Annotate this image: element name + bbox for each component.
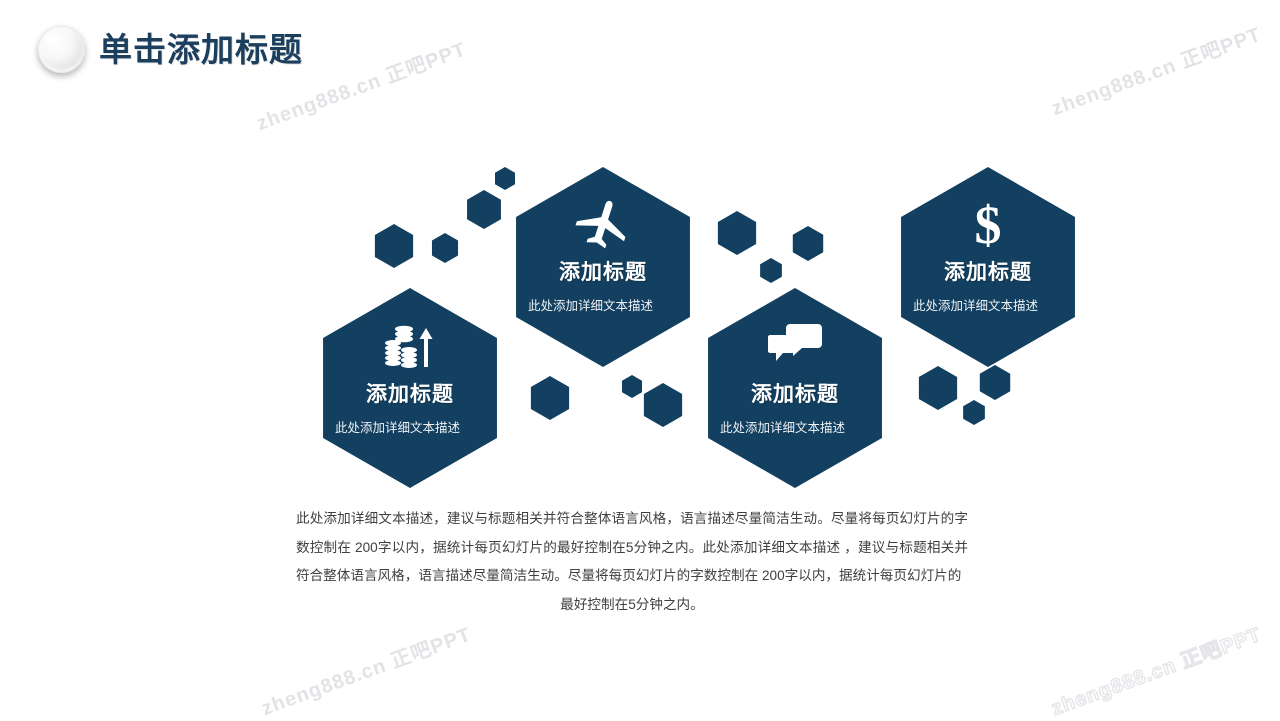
hex-card-1[interactable]: 添加标题 此处添加详细文本描述 (295, 318, 525, 437)
decor-hexagon (963, 400, 985, 425)
decor-hexagon (718, 211, 756, 255)
decor-hexagon (760, 258, 782, 283)
decor-hexagon (495, 167, 515, 190)
hex-card-description: 此处添加详细文本描述 (720, 419, 870, 437)
decor-hexagon (432, 233, 458, 263)
decor-hexagon (919, 366, 957, 410)
dollar-sign-icon: $ (873, 196, 1103, 254)
hex-card-3[interactable]: 添加标题 此处添加详细文本描述 (680, 318, 910, 437)
hex-card-title: 添加标题 (488, 260, 718, 285)
decor-hexagon (531, 376, 569, 420)
body-paragraph-last-line: 最好控制在5分钟之内。 (296, 591, 968, 620)
decor-hexagon (793, 226, 823, 261)
body-paragraph: 此处添加详细文本描述，建议与标题相关并符合整体语言风格，语言描述尽量简洁生动。尽… (296, 505, 968, 619)
decor-hexagon (644, 383, 682, 427)
airplane-icon (488, 196, 718, 254)
hex-card-description: 此处添加详细文本描述 (528, 297, 678, 315)
hex-card-title: 添加标题 (680, 382, 910, 407)
chat-bubbles-icon (680, 318, 910, 376)
hex-card-4[interactable]: $ 添加标题 此处添加详细文本描述 (873, 196, 1103, 315)
hex-card-2[interactable]: 添加标题 此处添加详细文本描述 (488, 196, 718, 315)
hex-card-description: 此处添加详细文本描述 (913, 297, 1063, 315)
decor-hexagon (375, 224, 413, 268)
decor-hexagon (980, 365, 1010, 400)
body-paragraph-text: 此处添加详细文本描述，建议与标题相关并符合整体语言风格，语言描述尽量简洁生动。尽… (296, 511, 968, 583)
coins-growth-icon (295, 318, 525, 376)
svg-text:$: $ (975, 197, 1002, 253)
hex-card-title: 添加标题 (295, 382, 525, 407)
decor-hexagon (622, 375, 642, 398)
hex-card-description: 此处添加详细文本描述 (335, 419, 485, 437)
hex-card-title: 添加标题 (873, 260, 1103, 285)
